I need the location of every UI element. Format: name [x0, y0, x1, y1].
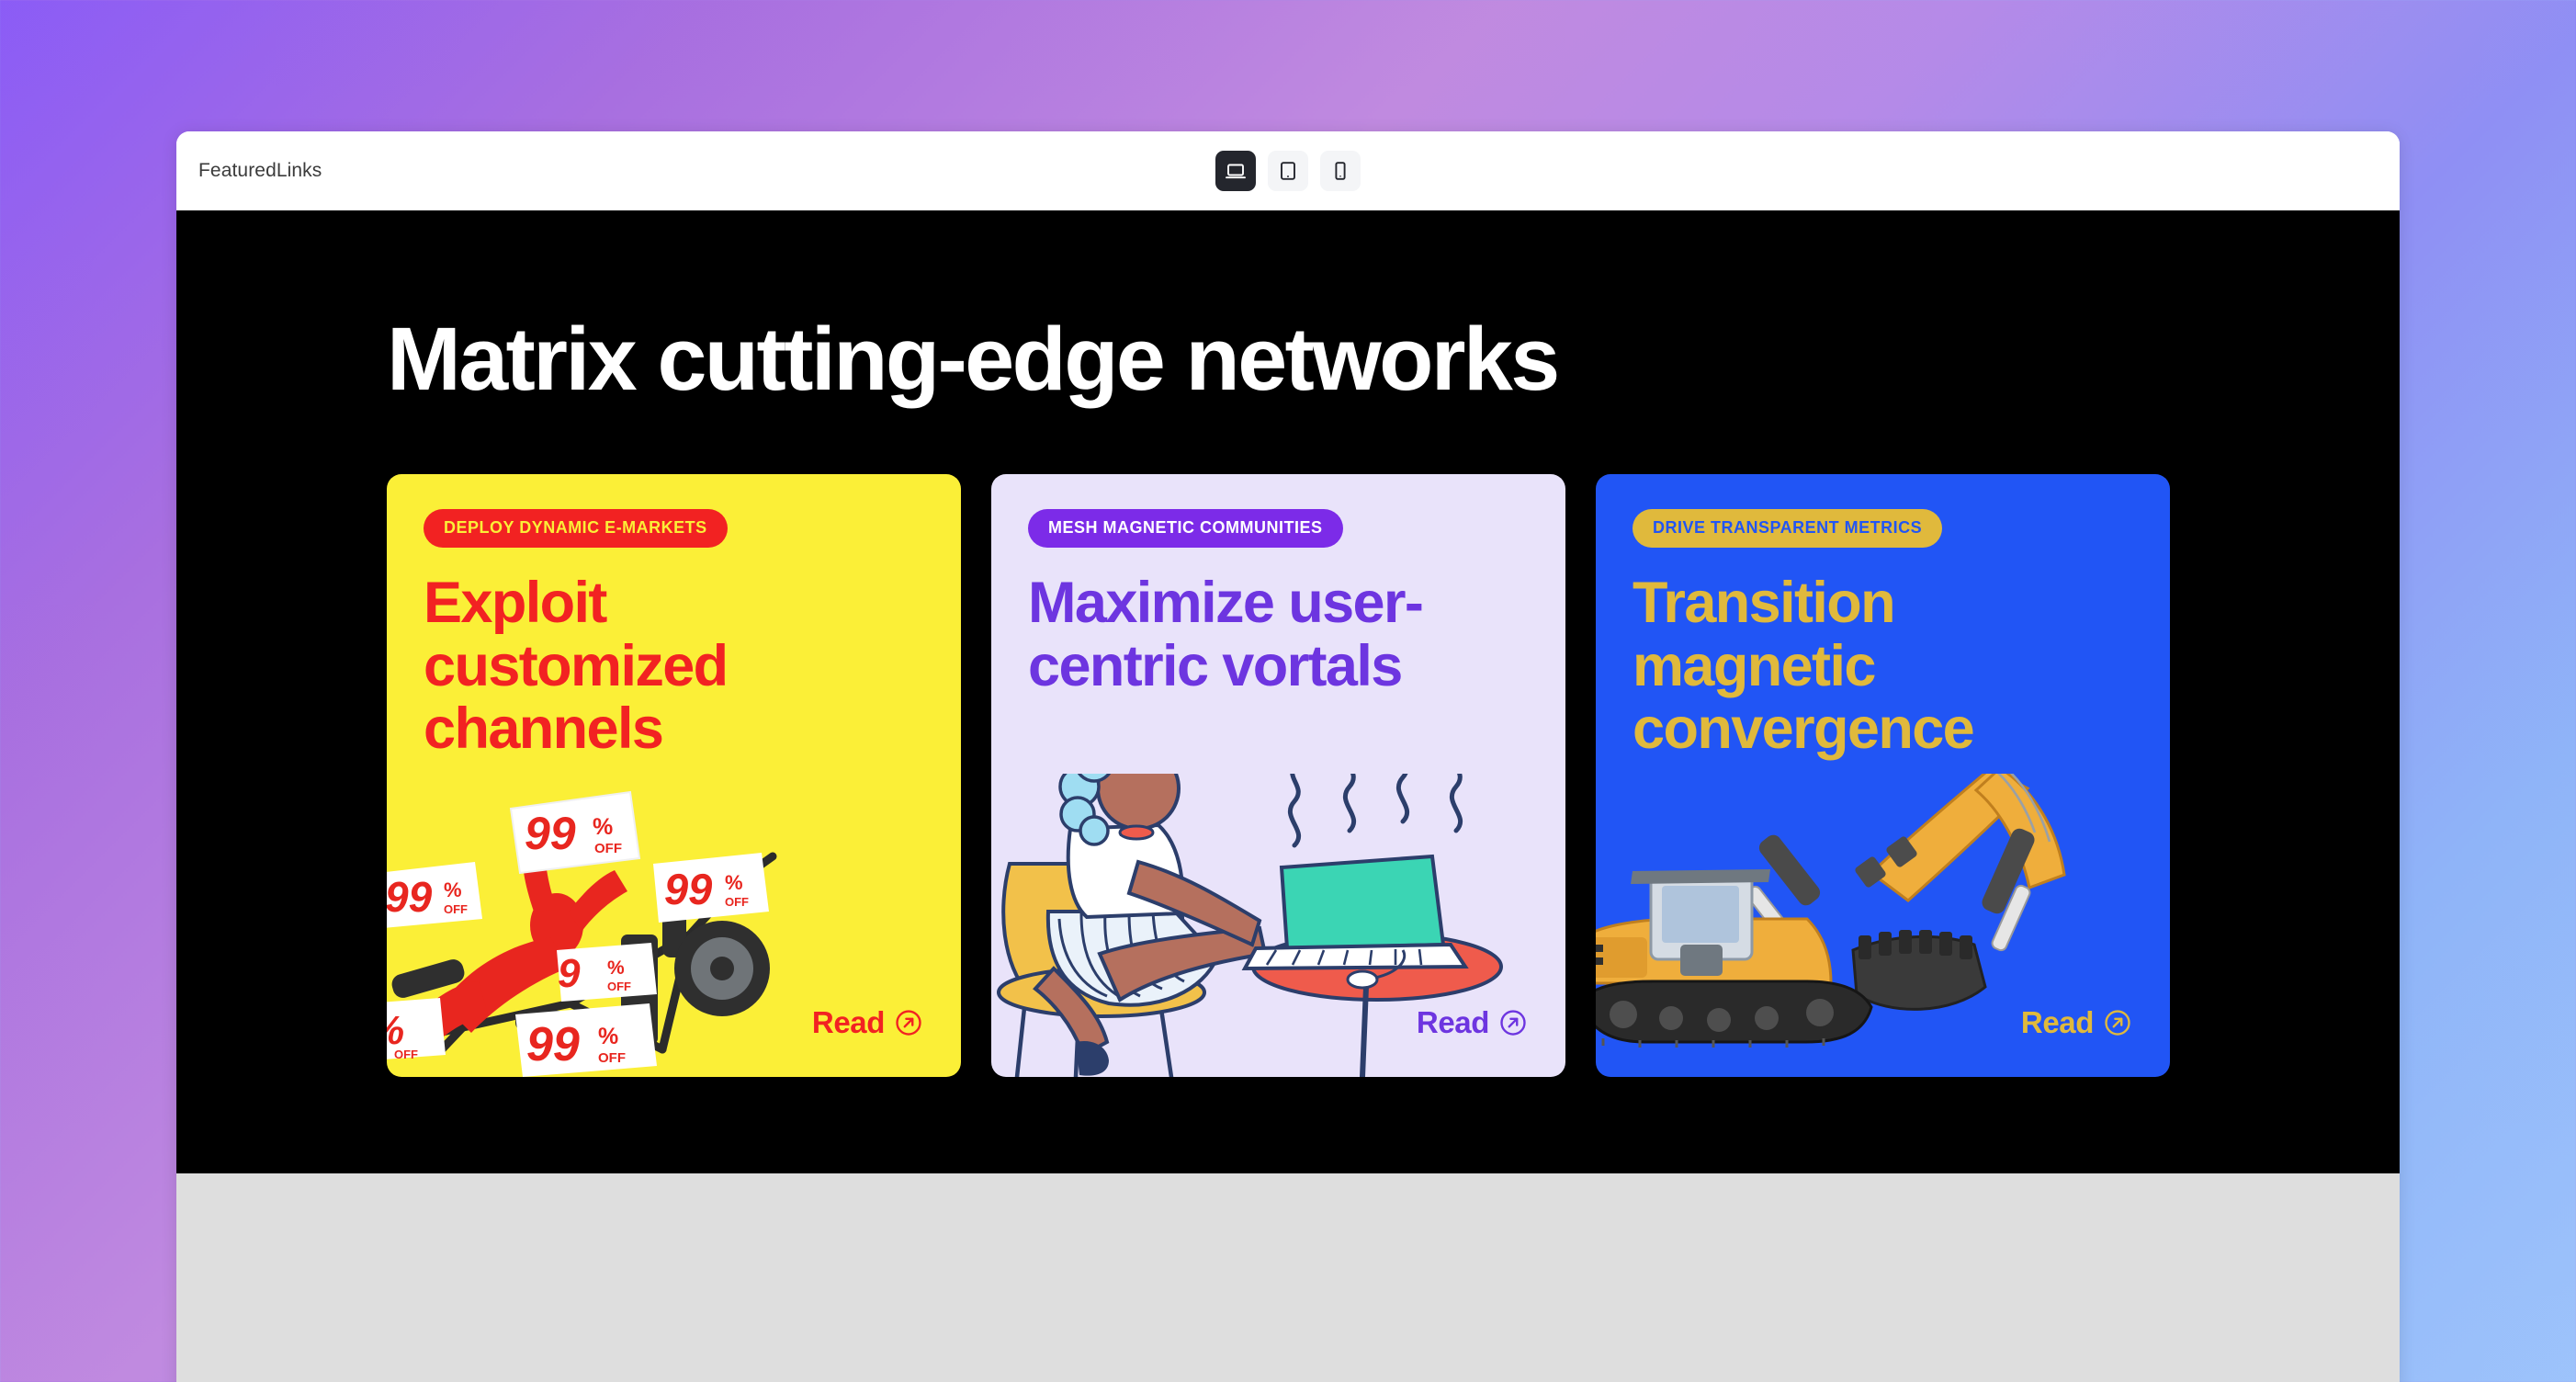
- featured-card[interactable]: DRIVE TRANSPARENT METRICS Transition mag…: [1596, 474, 2170, 1077]
- laptop-icon: [1225, 160, 1247, 182]
- card-title: Transition magnetic convergence: [1633, 572, 2133, 761]
- svg-text:99: 99: [387, 873, 433, 921]
- svg-text:OFF: OFF: [607, 980, 631, 993]
- card-read-label: Read: [2021, 1005, 2094, 1040]
- card-title: Maximize user-centric vortals: [1028, 572, 1529, 697]
- card-badge: DRIVE TRANSPARENT METRICS: [1633, 509, 1942, 548]
- svg-text:%: %: [598, 1024, 618, 1049]
- svg-text:99: 99: [525, 808, 576, 859]
- card-read-label: Read: [1417, 1005, 1489, 1040]
- svg-text:%: %: [444, 878, 462, 901]
- svg-text:OFF: OFF: [598, 1050, 626, 1066]
- svg-text:99: 99: [526, 1018, 580, 1071]
- card-read-link[interactable]: Read: [2021, 1005, 2131, 1040]
- svg-text:99: 99: [664, 865, 712, 913]
- page-footer-strip: [176, 1173, 2400, 1382]
- featured-card-list: DEPLOY DYNAMIC E-MARKETS Exploit customi…: [232, 403, 2344, 1077]
- phone-icon: [1329, 160, 1351, 182]
- hero-section: Matrix cutting-edge networks DEPLOY DYNA…: [176, 210, 2400, 1173]
- svg-text:%: %: [725, 871, 743, 894]
- card-badge: DEPLOY DYNAMIC E-MARKETS: [424, 509, 728, 548]
- preview-toolbar: FeaturedLinks: [176, 131, 2400, 210]
- card-read-link[interactable]: Read: [1417, 1005, 1527, 1040]
- card-read-link[interactable]: Read: [812, 1005, 922, 1040]
- svg-text:%: %: [387, 1008, 404, 1053]
- device-toggle-tablet[interactable]: [1268, 151, 1308, 191]
- svg-text:%: %: [607, 957, 625, 979]
- card-badge: MESH MAGNETIC COMMUNITIES: [1028, 509, 1343, 548]
- arrow-up-right-circle-icon: [2104, 1009, 2131, 1036]
- device-toggle-desktop[interactable]: [1215, 151, 1256, 191]
- svg-text:9: 9: [558, 951, 581, 996]
- arrow-up-right-circle-icon: [1499, 1009, 1527, 1036]
- featured-card[interactable]: DEPLOY DYNAMIC E-MARKETS Exploit customi…: [387, 474, 961, 1077]
- svg-text:OFF: OFF: [444, 902, 468, 916]
- device-toggle-mobile[interactable]: [1320, 151, 1361, 191]
- card-title: Exploit customized channels: [424, 572, 924, 761]
- device-toggle-group: [1215, 151, 1361, 191]
- page-title: Matrix cutting-edge networks: [232, 210, 2344, 403]
- arrow-up-right-circle-icon: [895, 1009, 922, 1036]
- site-brand-label: FeaturedLinks: [198, 160, 322, 182]
- featured-card[interactable]: MESH MAGNETIC COMMUNITIES Maximize user-…: [991, 474, 1565, 1077]
- tablet-icon: [1277, 160, 1299, 182]
- svg-text:OFF: OFF: [594, 841, 622, 856]
- svg-text:%: %: [593, 814, 613, 840]
- browser-preview-panel: FeaturedLinks: [176, 131, 2400, 1382]
- svg-text:OFF: OFF: [394, 1048, 418, 1061]
- card-read-label: Read: [812, 1005, 885, 1040]
- svg-text:OFF: OFF: [725, 895, 749, 909]
